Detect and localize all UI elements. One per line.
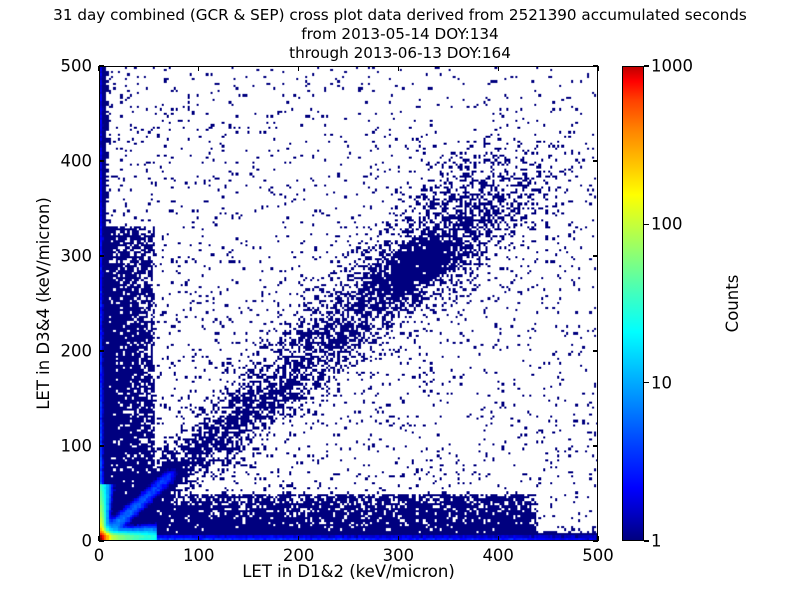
colorbar-ticklabel-10: 10 [651, 373, 672, 392]
y-tick-right-200 [593, 350, 598, 351]
colorbar-ticklabel-100: 100 [651, 215, 683, 234]
x-tick-100 [198, 536, 199, 541]
x-tick-top-300 [398, 66, 399, 71]
y-tick-right-300 [593, 255, 598, 256]
y-tick-right-400 [593, 160, 598, 161]
y-ticklabel-300: 300 [61, 247, 93, 266]
y-tick-right-500 [593, 65, 598, 66]
y-ticklabel-400: 400 [61, 152, 93, 171]
plot-title: 31 day combined (GCR & SEP) cross plot d… [0, 6, 800, 63]
colorbar-tick-100 [644, 224, 649, 225]
colorbar-ticklabel-1000: 1000 [651, 57, 693, 76]
density-scatter-canvas [100, 67, 597, 540]
x-tick-top-100 [198, 66, 199, 71]
colorbar-ticklabel-1: 1 [651, 532, 662, 551]
colorbar-tick-1 [644, 540, 649, 541]
y-tick-right-0 [593, 540, 598, 541]
y-ticklabel-100: 100 [61, 437, 93, 456]
x-tick-top-500 [597, 66, 598, 71]
x-axis-label: LET in D1&2 (keV/micron) [99, 562, 598, 581]
x-tick-top-0 [98, 66, 99, 71]
x-tick-300 [398, 536, 399, 541]
x-tick-top-200 [298, 66, 299, 71]
plot-title-line-1: 31 day combined (GCR & SEP) cross plot d… [0, 6, 800, 25]
y-tick-300 [99, 255, 104, 256]
y-ticklabel-200: 200 [61, 342, 93, 361]
plot-axes [99, 66, 598, 541]
y-tick-right-100 [593, 445, 598, 446]
colorbar-gradient [622, 66, 644, 541]
colorbar [622, 66, 644, 541]
figure-canvas: 31 day combined (GCR & SEP) cross plot d… [0, 0, 800, 600]
y-tick-100 [99, 445, 104, 446]
colorbar-tick-1000 [644, 65, 649, 66]
x-tick-top-400 [498, 66, 499, 71]
y-tick-400 [99, 160, 104, 161]
y-axis-label: LET in D3&4 (keV/micron) [34, 66, 53, 541]
y-tick-0 [99, 540, 104, 541]
y-tick-500 [99, 65, 104, 66]
y-ticklabel-500: 500 [61, 57, 93, 76]
colorbar-label: Counts [723, 66, 742, 541]
y-tick-200 [99, 350, 104, 351]
colorbar-tick-10 [644, 382, 649, 383]
y-ticklabel-0: 0 [82, 532, 93, 551]
x-tick-200 [298, 536, 299, 541]
x-tick-400 [498, 536, 499, 541]
plot-title-line-2: from 2013-05-14 DOY:134 [0, 25, 800, 44]
